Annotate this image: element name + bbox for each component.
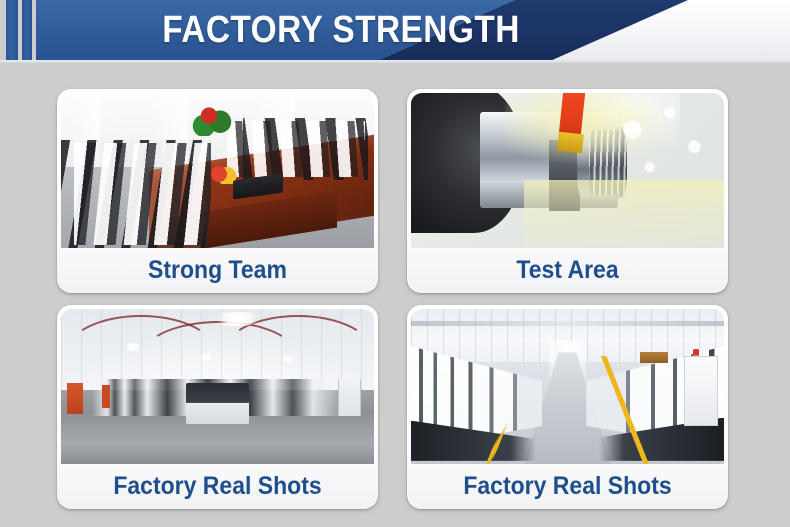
card-strong-team[interactable]: Strong Team — [57, 89, 378, 293]
control-panel-right — [684, 356, 717, 426]
banner-accent-stripe-inner — [22, 0, 32, 60]
ceiling-lamp-right — [280, 356, 296, 362]
foreground-machine — [186, 383, 249, 423]
card-caption: Factory Real Shots — [74, 464, 362, 509]
banner-accent-stripe-outer — [6, 0, 18, 60]
card-test-area[interactable]: Test Area — [407, 89, 728, 293]
page-header-banner: FACTORY STRENGTH — [0, 0, 790, 63]
wooden-crate — [640, 352, 668, 363]
cnc-turning-closeup-photo — [411, 93, 724, 248]
card-caption: Test Area — [424, 248, 712, 293]
card-factory-real-shots-rows[interactable]: Factory Real Shots — [407, 305, 728, 509]
orange-door-second — [102, 385, 110, 408]
roof-beam — [411, 321, 724, 326]
page-title: FACTORY STRENGTH — [73, 0, 610, 60]
card-caption: Strong Team — [74, 248, 362, 293]
meeting-room-photo — [61, 93, 374, 248]
people-right-row — [227, 121, 365, 177]
white-door-right — [338, 379, 362, 416]
people-left-row — [74, 143, 212, 245]
cutting-tool-tip — [557, 132, 584, 153]
card-caption: Factory Real Shots — [424, 464, 712, 509]
coolant-droplets — [611, 102, 717, 195]
orange-door-left — [67, 383, 83, 414]
cnc-machine-rows-photo — [411, 309, 724, 464]
ceiling-arc-right — [224, 315, 372, 387]
factory-hall-panorama-photo — [61, 309, 374, 464]
card-factory-real-shots-hall[interactable]: Factory Real Shots — [57, 305, 378, 509]
ceiling-lamp-left — [124, 343, 143, 351]
factory-strength-card-grid: Strong Team Test Area — [0, 63, 790, 527]
flower-arrangement-back — [189, 102, 239, 136]
